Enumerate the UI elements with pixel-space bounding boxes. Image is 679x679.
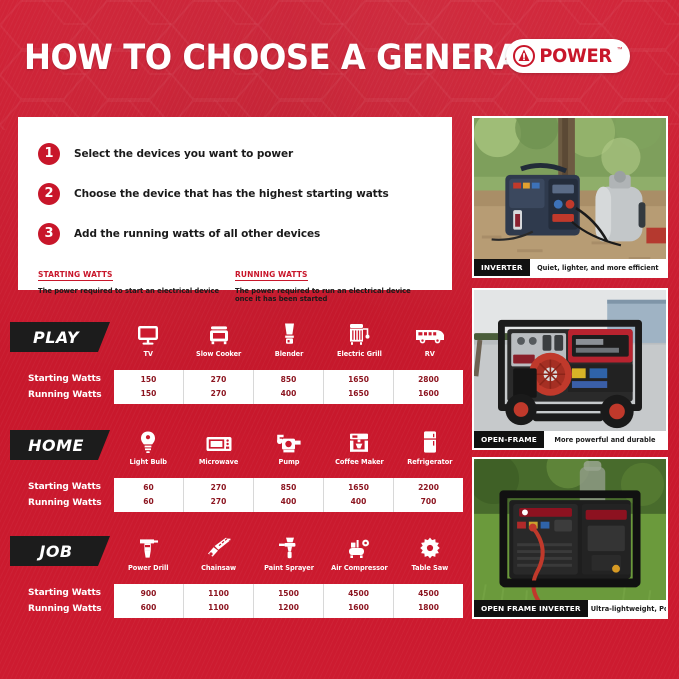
running-watts-value: 1200	[278, 601, 299, 615]
rv-icon	[395, 320, 465, 346]
photo-caption: OPEN FRAME INVERTER Ultra-lightweight, P…	[474, 600, 666, 617]
device-label: Refrigerator	[395, 458, 465, 466]
running-watts-value: 270	[211, 495, 227, 509]
running-watts-value: 1600	[348, 601, 369, 615]
running-watts-value: 1100	[208, 601, 229, 615]
device-label: Electric Grill	[324, 350, 394, 358]
photo-tag: INVERTER	[474, 259, 530, 276]
chainsaw-icon	[183, 534, 253, 560]
device-label: Microwave	[183, 458, 253, 466]
watts-row-labels: Starting Watts Running Watts	[28, 585, 112, 617]
device-column: Slow Cooker	[183, 320, 253, 358]
running-watts-value: 60	[143, 495, 153, 509]
step-number-badge: 3	[38, 223, 60, 245]
step-number-badge: 1	[38, 143, 60, 165]
running-watts-value: 600	[141, 601, 157, 615]
coffee-maker-icon	[324, 428, 394, 454]
running-watts-value: 1650	[348, 387, 369, 401]
device-label: TV	[113, 350, 183, 358]
starting-watts-value: 270	[211, 481, 227, 495]
watts-cell: 270 270	[184, 370, 254, 404]
device-column: Power Drill	[113, 534, 183, 572]
device-label: RV	[395, 350, 465, 358]
slow-cooker-icon	[183, 320, 253, 346]
device-header-row: Light Bulb Microwave Pump Coffee Maker	[113, 428, 465, 466]
starting-watts-value: 900	[141, 587, 157, 601]
device-label: Slow Cooker	[183, 350, 253, 358]
watts-cell: 850 400	[254, 478, 324, 512]
definition-description: The power required to run an electrical …	[235, 287, 426, 303]
watts-cell: 900 600	[114, 584, 184, 618]
device-column: Chainsaw	[183, 534, 253, 572]
device-column: TV	[113, 320, 183, 358]
device-column: Paint Sprayer	[254, 534, 324, 572]
microwave-icon	[183, 428, 253, 454]
starting-watts-label: Starting Watts	[28, 371, 112, 387]
open-frame-generator-photo	[474, 290, 666, 449]
refrigerator-icon	[395, 428, 465, 454]
category-tab-label: HOME	[28, 436, 84, 455]
step-number-badge: 2	[38, 183, 60, 205]
watts-cell: 1650 400	[324, 478, 394, 512]
photo-tag: OPEN-FRAME	[474, 431, 544, 448]
inverter-generator-photo	[474, 118, 666, 277]
photo-description: Quiet, lighter, and more efficient	[530, 259, 666, 276]
watts-table-home: Starting Watts Running Watts 60 60 270 2…	[0, 478, 470, 512]
starting-watts-value: 150	[141, 373, 157, 387]
product-photo-card-open-frame: OPEN-FRAME More powerful and durable	[472, 288, 668, 450]
photo-tag: OPEN FRAME INVERTER	[474, 600, 588, 617]
running-watts-value: 400	[281, 387, 297, 401]
table-saw-icon	[395, 534, 465, 560]
tv-icon	[113, 320, 183, 346]
starting-watts-value: 60	[143, 481, 153, 495]
electric-grill-icon	[324, 320, 394, 346]
paint-sprayer-icon	[254, 534, 324, 560]
starting-watts-value: 4500	[348, 587, 369, 601]
device-column: RV	[395, 320, 465, 358]
device-label: Paint Sprayer	[254, 564, 324, 572]
running-watts-label: Running Watts	[28, 601, 112, 617]
running-watts-value: 400	[351, 495, 367, 509]
running-watts-value: 270	[211, 387, 227, 401]
light-bulb-icon	[113, 428, 183, 454]
step-text: Select the devices you want to power	[74, 148, 293, 160]
watts-cell: 60 60	[114, 478, 184, 512]
photo-description: Ultra-lightweight, Portable	[588, 600, 668, 617]
category-tab-home: HOME	[10, 430, 110, 460]
definition-term: RUNNING WATTS	[235, 270, 308, 281]
device-label: Chainsaw	[183, 564, 253, 572]
definition-term: STARTING WATTS	[38, 270, 113, 281]
device-label: Coffee Maker	[324, 458, 394, 466]
power-drill-icon	[113, 534, 183, 560]
watts-cell: 2800 1600	[394, 370, 463, 404]
watts-row-labels: Starting Watts Running Watts	[28, 479, 112, 511]
starting-watts-label: Starting Watts	[28, 585, 112, 601]
device-label: Table Saw	[395, 564, 465, 572]
watts-cell: 2200 700	[394, 478, 463, 512]
running-watts-value: 150	[141, 387, 157, 401]
category-tab-label: PLAY	[33, 328, 79, 347]
device-column: Pump	[254, 428, 324, 466]
device-column: Table Saw	[395, 534, 465, 572]
watts-table-job: Starting Watts Running Watts 900 600 110…	[0, 584, 470, 618]
starting-watts-value: 1650	[348, 481, 369, 495]
definition-description: The power required to start an electrica…	[38, 287, 229, 295]
device-label: Blender	[254, 350, 324, 358]
device-header-row: TV Slow Cooker Blender Electric Grill	[113, 320, 465, 358]
watts-cell: 1500 1200	[254, 584, 324, 618]
watts-cell: 1650 1650	[324, 370, 394, 404]
watts-value-grid: 60 60 270 270 850 400 1650 400 2200 70	[114, 478, 463, 512]
photo-caption: OPEN-FRAME More powerful and durable	[474, 431, 666, 448]
logo-wordmark: POWER	[540, 45, 613, 67]
instructions-panel: 1 Select the devices you want to power 2…	[18, 117, 452, 290]
photo-description: More powerful and durable	[544, 431, 666, 448]
definitions-row: STARTING WATTS The power required to sta…	[38, 264, 432, 303]
watts-row-labels: Starting Watts Running Watts	[28, 371, 112, 403]
watts-value-grid: 900 600 1100 1100 1500 1200 4500 1600 45…	[114, 584, 463, 618]
device-header-row: Power Drill Chainsaw Paint Sprayer Air C…	[113, 534, 465, 572]
watts-cell: 4500 1800	[394, 584, 463, 618]
starting-watts-value: 4500	[418, 587, 439, 601]
watts-cell: 1100 1100	[184, 584, 254, 618]
product-photo-card-inverter: INVERTER Quiet, lighter, and more effici…	[472, 116, 668, 278]
step-item: 2 Choose the device that has the highest…	[38, 175, 432, 212]
device-column: Blender	[254, 320, 324, 358]
device-label: Power Drill	[113, 564, 183, 572]
step-text: Choose the device that has the highest s…	[74, 188, 389, 200]
running-watts-value: 1600	[418, 387, 439, 401]
starting-watts-value: 270	[211, 373, 227, 387]
starting-watts-value: 1500	[278, 587, 299, 601]
watts-cell: 850 400	[254, 370, 324, 404]
definition-running-watts: RUNNING WATTS The power required to run …	[235, 264, 432, 303]
definition-starting-watts: STARTING WATTS The power required to sta…	[38, 264, 235, 303]
device-column: Electric Grill	[324, 320, 394, 358]
starting-watts-value: 2200	[418, 481, 439, 495]
device-label: Light Bulb	[113, 458, 183, 466]
a-triangle-icon	[513, 45, 535, 67]
device-label: Air Compressor	[324, 564, 394, 572]
blender-icon	[254, 320, 324, 346]
running-watts-value: 1800	[418, 601, 439, 615]
step-item: 1 Select the devices you want to power	[38, 135, 432, 172]
running-watts-label: Running Watts	[28, 495, 112, 511]
watts-table-play: Starting Watts Running Watts 150 150 270…	[0, 370, 470, 404]
device-column: Air Compressor	[324, 534, 394, 572]
open-frame-inverter-photo	[474, 459, 666, 618]
air-compressor-icon	[324, 534, 394, 560]
starting-watts-label: Starting Watts	[28, 479, 112, 495]
starting-watts-value: 1650	[348, 373, 369, 387]
trademark-symbol: ™	[617, 47, 623, 53]
running-watts-value: 700	[421, 495, 437, 509]
watts-cell: 150 150	[114, 370, 184, 404]
apower-logo: POWER ™	[506, 39, 630, 73]
device-label: Pump	[254, 458, 324, 466]
category-tab-play: PLAY	[10, 322, 110, 352]
watts-cell: 270 270	[184, 478, 254, 512]
starting-watts-value: 850	[281, 373, 297, 387]
device-column: Microwave	[183, 428, 253, 466]
category-tab-label: JOB	[39, 542, 72, 561]
device-column: Refrigerator	[395, 428, 465, 466]
pump-icon	[254, 428, 324, 454]
step-item: 3 Add the running watts of all other dev…	[38, 215, 432, 252]
device-column: Light Bulb	[113, 428, 183, 466]
running-watts-label: Running Watts	[28, 387, 112, 403]
starting-watts-value: 1100	[208, 587, 229, 601]
poster-header: HOW TO CHOOSE A GENERATOR POWER ™	[24, 36, 664, 90]
device-column: Coffee Maker	[324, 428, 394, 466]
infographic-poster: HOW TO CHOOSE A GENERATOR POWER ™ 1 Sele…	[0, 0, 679, 679]
starting-watts-value: 2800	[418, 373, 439, 387]
starting-watts-value: 850	[281, 481, 297, 495]
product-photo-card-open-frame-inverter: OPEN FRAME INVERTER Ultra-lightweight, P…	[472, 457, 668, 619]
watts-value-grid: 150 150 270 270 850 400 1650 1650 2800	[114, 370, 463, 404]
watts-cell: 4500 1600	[324, 584, 394, 618]
step-text: Add the running watts of all other devic…	[74, 228, 320, 240]
running-watts-value: 400	[281, 495, 297, 509]
category-tab-job: JOB	[10, 536, 110, 566]
photo-caption: INVERTER Quiet, lighter, and more effici…	[474, 259, 666, 276]
